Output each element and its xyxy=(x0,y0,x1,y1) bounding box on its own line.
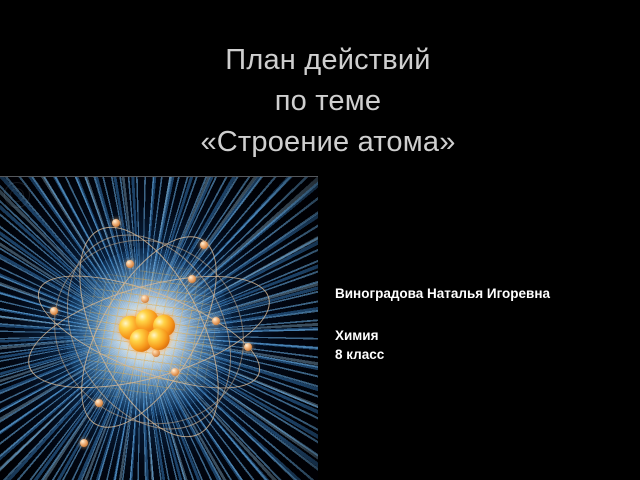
title-line-1: План действий xyxy=(140,40,516,81)
spacer xyxy=(335,303,631,326)
electron xyxy=(126,260,134,268)
watermark-icon xyxy=(4,182,30,208)
presentation-slide: План действий по теме «Строение атома» В… xyxy=(0,0,640,480)
credits-block: Виноградова Наталья Игоревна Химия 8 кла… xyxy=(335,284,631,364)
page-title: План действий по теме «Строение атома» xyxy=(140,40,516,163)
author-name: Виноградова Наталья Игоревна xyxy=(335,284,631,303)
atom-illustration xyxy=(0,176,318,480)
title-line-3: «Строение атома» xyxy=(140,122,516,163)
electron xyxy=(112,219,120,227)
electron xyxy=(141,295,149,303)
electron xyxy=(171,368,179,376)
subject-label: Химия xyxy=(335,326,631,345)
electron xyxy=(200,241,208,249)
title-line-2: по теме xyxy=(140,81,516,122)
grade-label: 8 класс xyxy=(335,345,631,364)
electron xyxy=(50,307,58,315)
